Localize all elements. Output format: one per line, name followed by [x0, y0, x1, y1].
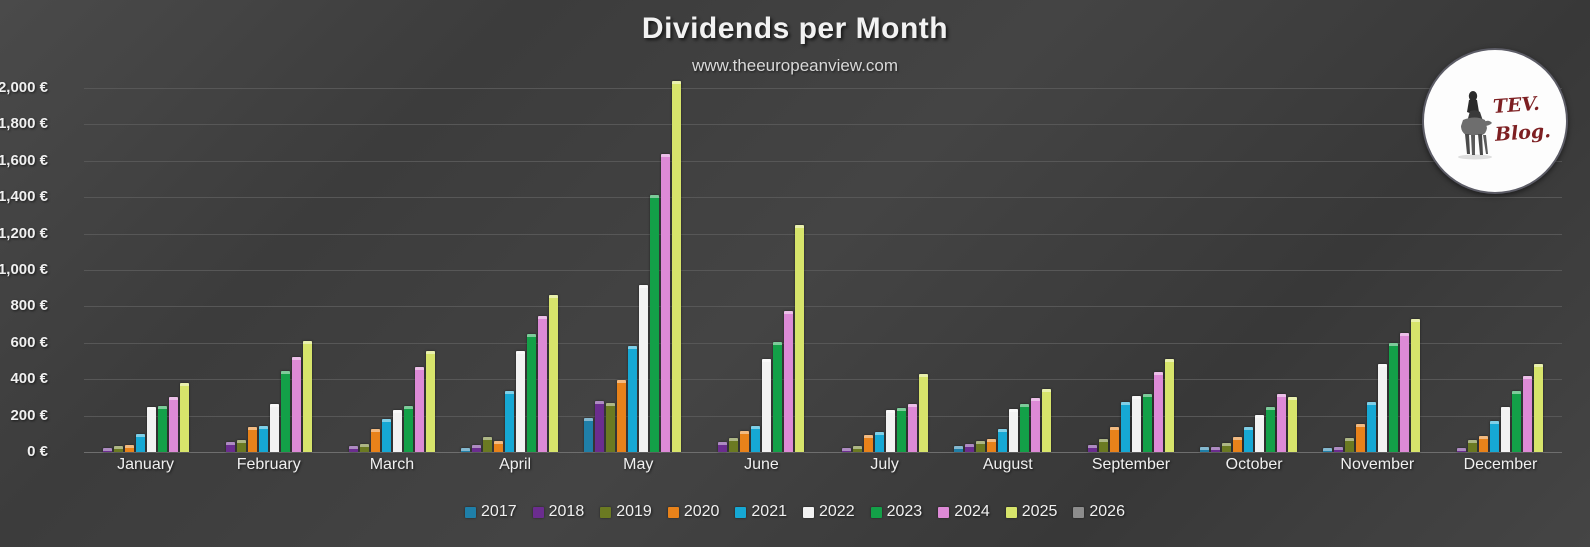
bar[interactable] — [886, 410, 895, 452]
bar[interactable] — [595, 401, 604, 452]
bar[interactable] — [483, 437, 492, 452]
month-group — [207, 88, 330, 452]
month-group — [577, 88, 700, 452]
bar[interactable] — [1288, 397, 1297, 453]
legend-item-2022[interactable]: 2022 — [803, 503, 855, 521]
bar[interactable] — [125, 445, 134, 452]
bar[interactable] — [1099, 439, 1108, 452]
legend-item-2019[interactable]: 2019 — [600, 503, 652, 521]
x-axis-tick-label: February — [207, 456, 330, 474]
legend-swatch-icon — [1073, 507, 1084, 518]
bar[interactable] — [1132, 396, 1141, 452]
bar[interactable] — [1244, 427, 1253, 452]
bar[interactable] — [472, 445, 481, 452]
bar[interactable] — [404, 406, 413, 452]
plot-area: 2,000 €1,800 €1,600 €1,400 €1,200 €1,000… — [84, 88, 1562, 452]
month-group — [1069, 88, 1192, 452]
bar[interactable] — [270, 404, 279, 452]
bar[interactable] — [103, 448, 112, 452]
bar[interactable] — [751, 426, 760, 452]
bar[interactable] — [415, 367, 424, 452]
legend-swatch-icon — [600, 507, 611, 518]
y-axis-tick-label: 1,000 € — [0, 261, 48, 278]
bar[interactable] — [1233, 437, 1242, 452]
month-group — [84, 88, 207, 452]
logo-line-2: Blog. — [1494, 118, 1552, 149]
legend-item-2024[interactable]: 2024 — [938, 503, 990, 521]
legend-label: 2023 — [887, 503, 923, 521]
legend: 2017201820192020202120222023202420252026 — [0, 503, 1590, 521]
bar[interactable] — [875, 432, 884, 452]
bar[interactable] — [158, 406, 167, 452]
legend-label: 2019 — [616, 503, 652, 521]
bar[interactable] — [639, 285, 648, 452]
bar[interactable] — [1356, 424, 1365, 452]
bar[interactable] — [1468, 440, 1477, 452]
bar[interactable] — [795, 225, 804, 452]
y-axis-tick-label: 200 € — [0, 407, 48, 424]
legend-item-2017[interactable]: 2017 — [465, 503, 517, 521]
bar[interactable] — [226, 442, 235, 452]
month-group — [1193, 88, 1316, 452]
bar[interactable] — [1501, 407, 1510, 453]
bar[interactable] — [393, 410, 402, 452]
bar[interactable] — [1121, 402, 1130, 452]
bar[interactable] — [864, 435, 873, 452]
bar[interactable] — [1479, 436, 1488, 452]
legend-label: 2024 — [954, 503, 990, 521]
legend-item-2018[interactable]: 2018 — [533, 503, 585, 521]
bar[interactable] — [584, 418, 593, 452]
bar[interactable] — [349, 446, 358, 452]
month-group — [823, 88, 946, 452]
legend-label: 2017 — [481, 503, 517, 521]
bar-series-container — [84, 88, 1562, 452]
bar[interactable] — [248, 427, 257, 452]
bar[interactable] — [1523, 376, 1532, 452]
bar[interactable] — [965, 444, 974, 452]
axis-baseline — [84, 452, 1562, 453]
y-axis-tick-label: 400 € — [0, 370, 48, 387]
logo-text: TEV. Blog. — [1492, 90, 1552, 149]
bar[interactable] — [762, 359, 771, 452]
y-axis-tick-label: 0 € — [0, 443, 48, 460]
x-axis-tick-label: August — [946, 456, 1069, 474]
bar[interactable] — [1042, 389, 1051, 452]
x-axis-tick-label: October — [1193, 456, 1316, 474]
bar[interactable] — [628, 346, 637, 452]
legend-swatch-icon — [938, 507, 949, 518]
bar[interactable] — [1200, 447, 1209, 452]
horse-rider-silhouette-icon — [1450, 84, 1496, 160]
bar[interactable] — [259, 426, 268, 452]
bar[interactable] — [1154, 372, 1163, 452]
bar[interactable] — [1400, 333, 1409, 452]
bar[interactable] — [650, 195, 659, 452]
bar[interactable] — [382, 419, 391, 452]
bar[interactable] — [908, 404, 917, 452]
bar[interactable] — [1345, 438, 1354, 452]
bar[interactable] — [897, 408, 906, 452]
bar[interactable] — [114, 446, 123, 452]
x-axis-tick-label: April — [454, 456, 577, 474]
bar[interactable] — [1110, 427, 1119, 452]
bar[interactable] — [1031, 398, 1040, 452]
bar[interactable] — [1211, 447, 1220, 452]
bar[interactable] — [371, 429, 380, 452]
legend-swatch-icon — [1006, 507, 1017, 518]
legend-label: 2022 — [819, 503, 855, 521]
bar[interactable] — [617, 380, 626, 452]
legend-item-2025[interactable]: 2025 — [1006, 503, 1058, 521]
bar[interactable] — [1411, 319, 1420, 452]
legend-label: 2021 — [751, 503, 787, 521]
bar[interactable] — [1266, 407, 1275, 453]
bar[interactable] — [1020, 404, 1029, 452]
month-group — [1316, 88, 1439, 452]
bar[interactable] — [292, 357, 301, 452]
bar[interactable] — [976, 441, 985, 452]
bar[interactable] — [987, 439, 996, 452]
bar[interactable] — [1143, 394, 1152, 452]
legend-item-2021[interactable]: 2021 — [735, 503, 787, 521]
bar[interactable] — [360, 444, 369, 452]
bar[interactable] — [1165, 359, 1174, 452]
bar[interactable] — [773, 342, 782, 452]
bar[interactable] — [1323, 448, 1332, 452]
page-title: Dividends per Month — [0, 12, 1590, 46]
bar[interactable] — [1490, 421, 1499, 452]
bar[interactable] — [853, 446, 862, 452]
y-axis-tick-label: 2,000 € — [0, 79, 48, 96]
x-axis-tick-label: September — [1069, 456, 1192, 474]
y-axis-tick-label: 1,400 € — [0, 188, 48, 205]
bar[interactable] — [1457, 448, 1466, 452]
bar[interactable] — [538, 316, 547, 453]
legend-label: 2025 — [1022, 503, 1058, 521]
month-group — [454, 88, 577, 452]
chart-screenshot: Dividends per Month www.theeuropeanview.… — [0, 0, 1590, 547]
legend-item-2023[interactable]: 2023 — [871, 503, 923, 521]
bar[interactable] — [661, 154, 670, 452]
bar[interactable] — [729, 438, 738, 452]
x-axis-tick-label: July — [823, 456, 946, 474]
x-axis-tick-label: November — [1316, 456, 1439, 474]
bar[interactable] — [919, 374, 928, 452]
month-group — [946, 88, 1069, 452]
logo-line-1: TEV. — [1492, 90, 1550, 121]
legend-label: 2018 — [549, 503, 585, 521]
y-axis-tick-label: 1,800 € — [0, 115, 48, 132]
bar[interactable] — [1389, 343, 1398, 452]
legend-swatch-icon — [803, 507, 814, 518]
bar[interactable] — [281, 371, 290, 452]
bar[interactable] — [516, 351, 525, 452]
bar[interactable] — [1367, 402, 1376, 452]
bar[interactable] — [461, 448, 470, 452]
chart-subtitle: www.theeuropeanview.com — [0, 56, 1590, 76]
bar[interactable] — [494, 441, 503, 452]
bar[interactable] — [606, 403, 615, 452]
bar[interactable] — [740, 431, 749, 452]
bar[interactable] — [1009, 409, 1018, 452]
legend-label: 2026 — [1089, 503, 1125, 521]
bar[interactable] — [180, 383, 189, 452]
legend-swatch-icon — [735, 507, 746, 518]
bar[interactable] — [169, 397, 178, 453]
x-axis-tick-label: March — [330, 456, 453, 474]
month-group — [700, 88, 823, 452]
bar[interactable] — [718, 442, 727, 452]
bar[interactable] — [1088, 445, 1097, 452]
month-group — [330, 88, 453, 452]
y-axis-tick-label: 1,600 € — [0, 152, 48, 169]
bar[interactable] — [147, 407, 156, 453]
x-axis-tick-label: June — [700, 456, 823, 474]
bar[interactable] — [1534, 364, 1543, 452]
x-axis-tick-label: December — [1439, 456, 1562, 474]
bar[interactable] — [672, 81, 681, 452]
bar[interactable] — [842, 448, 851, 452]
bar[interactable] — [426, 351, 435, 452]
bar[interactable] — [1277, 394, 1286, 452]
bar[interactable] — [1378, 364, 1387, 452]
bar[interactable] — [505, 391, 514, 452]
legend-swatch-icon — [533, 507, 544, 518]
bar[interactable] — [954, 446, 963, 452]
bar[interactable] — [527, 334, 536, 452]
bar[interactable] — [1334, 447, 1343, 452]
bar[interactable] — [1255, 415, 1264, 452]
x-axis: JanuaryFebruaryMarchAprilMayJuneJulyAugu… — [84, 456, 1562, 474]
bar[interactable] — [237, 440, 246, 452]
y-axis-tick-label: 600 € — [0, 334, 48, 351]
x-axis-tick-label: January — [84, 456, 207, 474]
bar[interactable] — [303, 341, 312, 452]
y-axis-tick-label: 800 € — [0, 297, 48, 314]
bar[interactable] — [549, 295, 558, 452]
legend-item-2026[interactable]: 2026 — [1073, 503, 1125, 521]
legend-label: 2020 — [684, 503, 720, 521]
bar[interactable] — [998, 429, 1007, 452]
y-axis-tick-label: 1,200 € — [0, 225, 48, 242]
x-axis-tick-label: May — [577, 456, 700, 474]
legend-swatch-icon — [668, 507, 679, 518]
legend-swatch-icon — [465, 507, 476, 518]
bar[interactable] — [1512, 391, 1521, 452]
legend-item-2020[interactable]: 2020 — [668, 503, 720, 521]
logo: TEV. Blog. — [1422, 48, 1568, 194]
bar[interactable] — [136, 434, 145, 452]
bar[interactable] — [784, 311, 793, 452]
bar[interactable] — [1222, 443, 1231, 452]
legend-swatch-icon — [871, 507, 882, 518]
